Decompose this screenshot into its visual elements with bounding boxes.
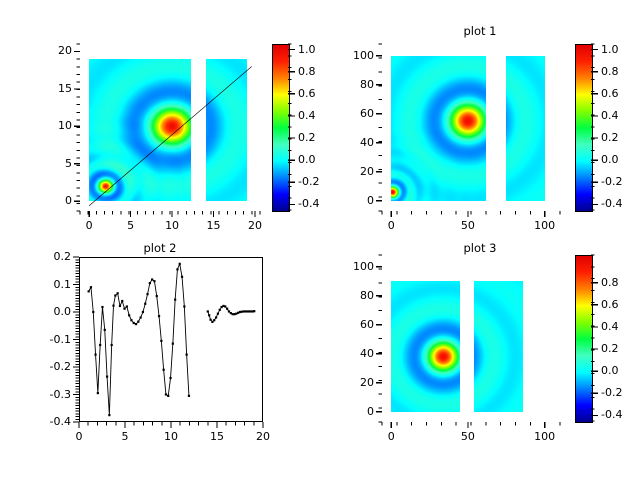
colorbar-ticks-top-left [0,0,320,240]
tick-label: -0.4 [601,197,622,210]
tick-label: 1.0 [298,43,316,56]
tick-label: -0.2 [25,360,71,373]
subplot-top-right: plot 1 050100020406080100 1.00.80.60.40.… [320,0,640,240]
tick-label: -0.1 [25,333,71,346]
tick-label: 0.4 [601,109,619,122]
colorbar-ticks-plot-1 [320,0,640,240]
figure-canvas: 0510152005101520 1.00.80.60.40.20.0-0.2-… [0,0,640,480]
tick-label: 0 [59,430,99,443]
tick-label: 15 [197,430,237,443]
tick-label: 0.0 [601,153,619,166]
tick-label: 0.4 [601,320,619,333]
tick-label: 0.6 [601,87,619,100]
tick-label: 0.6 [298,87,316,100]
tick-label: 0.0 [25,305,71,318]
tick-label: -0.2 [298,175,319,188]
tick-label: 0.2 [298,131,316,144]
tick-label: 0.1 [25,278,71,291]
tick-label: -0.2 [601,175,622,188]
tick-label: 0.4 [298,109,316,122]
subplot-top-left: 0510152005101520 1.00.80.60.40.20.0-0.2-… [0,0,320,240]
tick-label: -0.4 [25,415,71,428]
tick-label: 0.0 [298,153,316,166]
tick-label: 20 [243,430,283,443]
tick-label: 0.2 [601,342,619,355]
tick-label: 5 [105,430,145,443]
tick-label: 10 [151,430,191,443]
colorbar-ticks-plot-3 [320,240,640,480]
tick-label: -0.3 [25,388,71,401]
tick-label: 0.0 [601,364,619,377]
tick-label: 1.0 [601,43,619,56]
tick-label: -0.4 [601,408,622,421]
tick-label: -0.4 [298,197,319,210]
subplot-bottom-left: plot 2 051015200.20.10.0-0.1-0.2-0.3-0.4 [0,240,320,480]
subplot-bottom-right: plot 3 050100020406080100 0.80.60.40.20.… [320,240,640,480]
tick-label: -0.2 [601,386,622,399]
tick-label: 0.8 [601,276,619,289]
tick-label: 0.2 [601,131,619,144]
tick-label: 0.6 [601,298,619,311]
tick-label: 0.8 [298,65,316,78]
tick-label: 0.8 [601,65,619,78]
tick-label: 0.2 [25,250,71,263]
